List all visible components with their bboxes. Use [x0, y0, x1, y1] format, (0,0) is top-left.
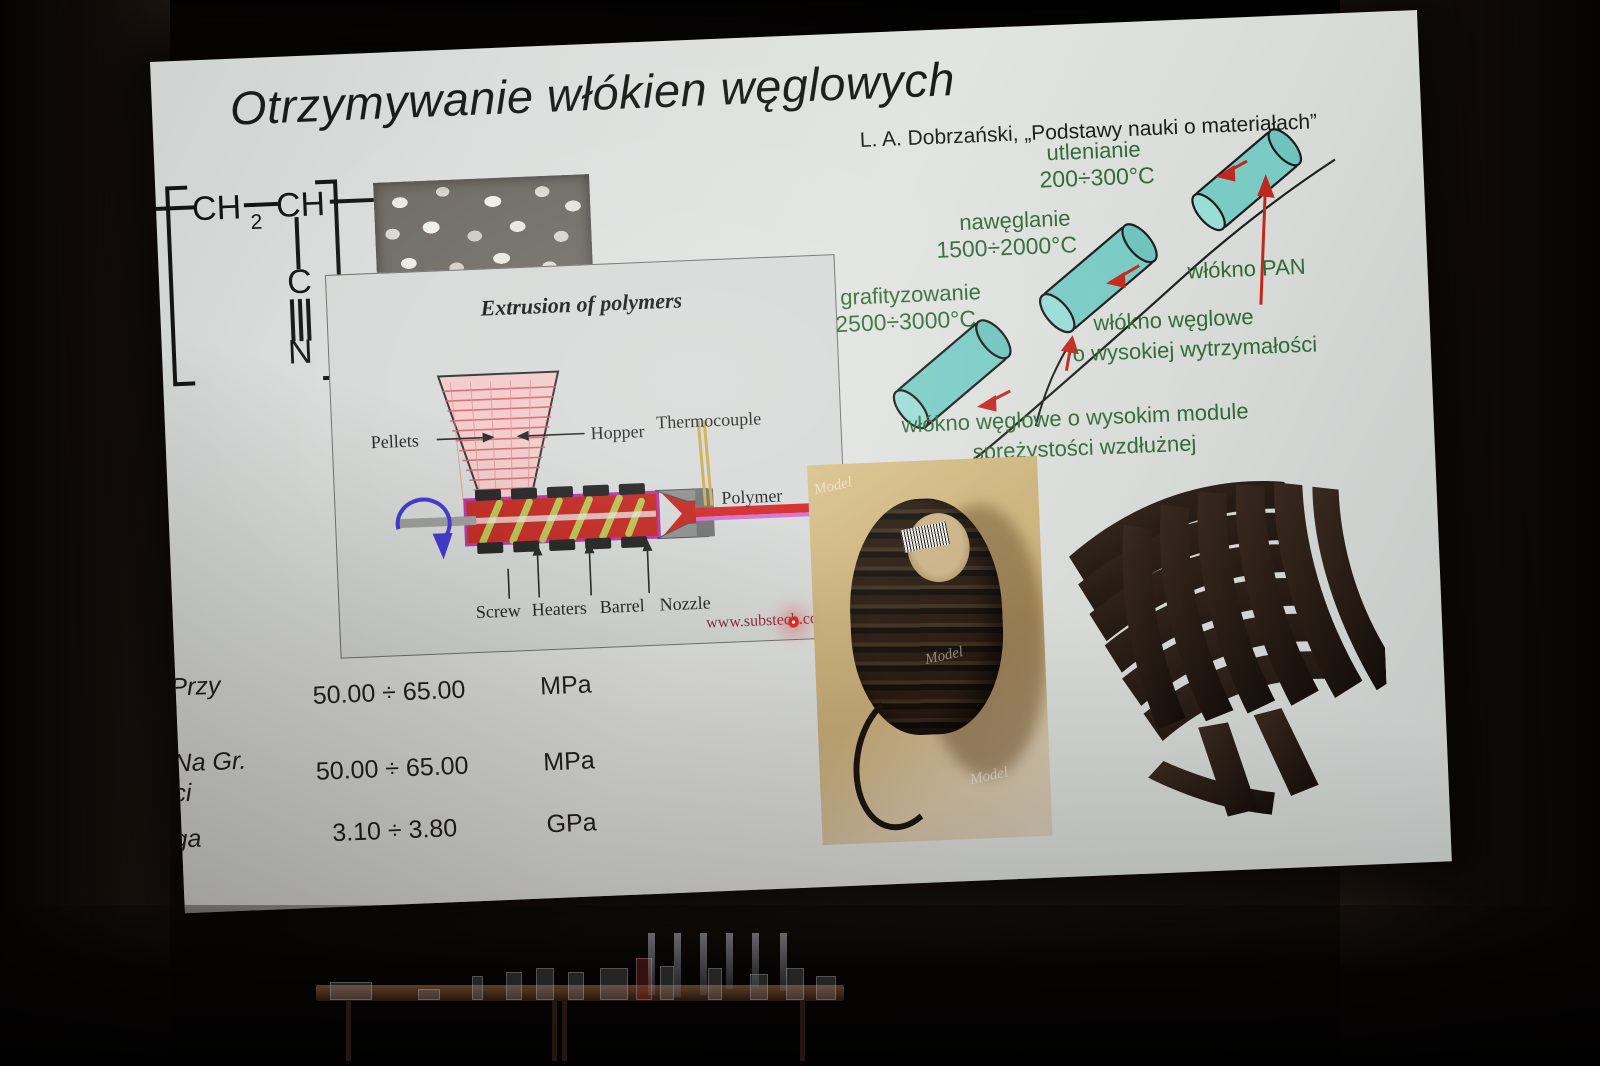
- bench-leg: [552, 999, 557, 1061]
- burette: [648, 933, 655, 995]
- table-row: Naprężenie Przy Zerwaniu 50.00 ÷ 65.00 M…: [150, 651, 715, 679]
- formula-ch: CH: [275, 185, 326, 225]
- burette: [780, 933, 787, 991]
- label-screw: Screw: [475, 600, 521, 622]
- projection-screen: Otrzymywanie włókien węglowych L. A. Dob…: [150, 10, 1452, 913]
- label-pellets: Pellets: [370, 430, 419, 452]
- formula-nitrogen: N: [287, 333, 313, 372]
- burette: [674, 933, 681, 997]
- bottle: [472, 976, 483, 1000]
- bench-leg: [346, 999, 351, 1061]
- bottle: [786, 968, 804, 1000]
- slide-title: Otrzymywanie włókien węglowych: [229, 51, 956, 136]
- table-row: Moduł Younga 3.10 ÷ 3.80 GPa: [150, 803, 721, 831]
- label-oxidation: utlenianie: [1046, 137, 1141, 165]
- label-thermocouple: Thermocouple: [656, 408, 762, 432]
- row-value: 3.10 ÷ 3.80: [299, 813, 490, 850]
- woven-carbon-fiber-fabric-photo: [1047, 452, 1392, 840]
- bench-box: [418, 989, 440, 1000]
- label-heaters: Heaters: [531, 598, 587, 620]
- bench-leg: [562, 999, 567, 1061]
- burette: [752, 933, 759, 987]
- presentation-slide: Otrzymywanie włókien węglowych L. A. Dob…: [150, 10, 1452, 913]
- bottle: [708, 968, 722, 1000]
- label-nozzle: Nozzle: [659, 592, 711, 614]
- bench-box: [330, 982, 372, 1000]
- label-pan-fiber: włókno PAN: [1187, 255, 1306, 284]
- label-oxidation-range: 200÷300°C: [1039, 163, 1155, 193]
- formula-carbon: C: [286, 263, 312, 302]
- bottle: [568, 972, 584, 1000]
- bottle: [660, 966, 674, 1000]
- row-unit: MPa: [505, 669, 626, 703]
- properties-table: Naprężenie Przy Zerwaniu 50.00 ÷ 65.00 M…: [150, 651, 715, 679]
- box: [816, 976, 836, 1000]
- carbon-fiber-tow-spool-photo: Model Model Model: [807, 456, 1052, 845]
- photo-of-projected-slide: Otrzymywanie włókien węglowych L. A. Dob…: [0, 0, 1600, 1066]
- extrusion-diagram-panel: Extrusion of polymers: [325, 254, 850, 659]
- formula-ch2: CH: [191, 188, 242, 228]
- table-row: Naprężenie Na Gr. Plastyczności 50.00 ÷ …: [150, 727, 718, 755]
- label-barrel: Barrel: [599, 595, 645, 617]
- bottle: [506, 972, 522, 1000]
- lab-bench: [300, 935, 860, 1066]
- label-hopper: Hopper: [590, 421, 645, 443]
- row-value: 50.00 ÷ 65.00: [294, 675, 485, 712]
- beaker: [600, 968, 628, 1000]
- burette: [726, 933, 733, 989]
- row-value: 50.00 ÷ 65.00: [297, 751, 488, 788]
- label-polymer: Polymer: [721, 485, 783, 507]
- bench-leg: [800, 999, 805, 1061]
- formula-ch2-subscript: 2: [250, 211, 263, 234]
- burette: [700, 933, 707, 995]
- row-unit: GPa: [511, 807, 632, 841]
- extrusion-machine-drawing: Pellets Hopper Thermocouple Polymer Scre…: [326, 255, 849, 658]
- row-unit: MPa: [509, 745, 630, 779]
- bottle: [536, 968, 554, 1000]
